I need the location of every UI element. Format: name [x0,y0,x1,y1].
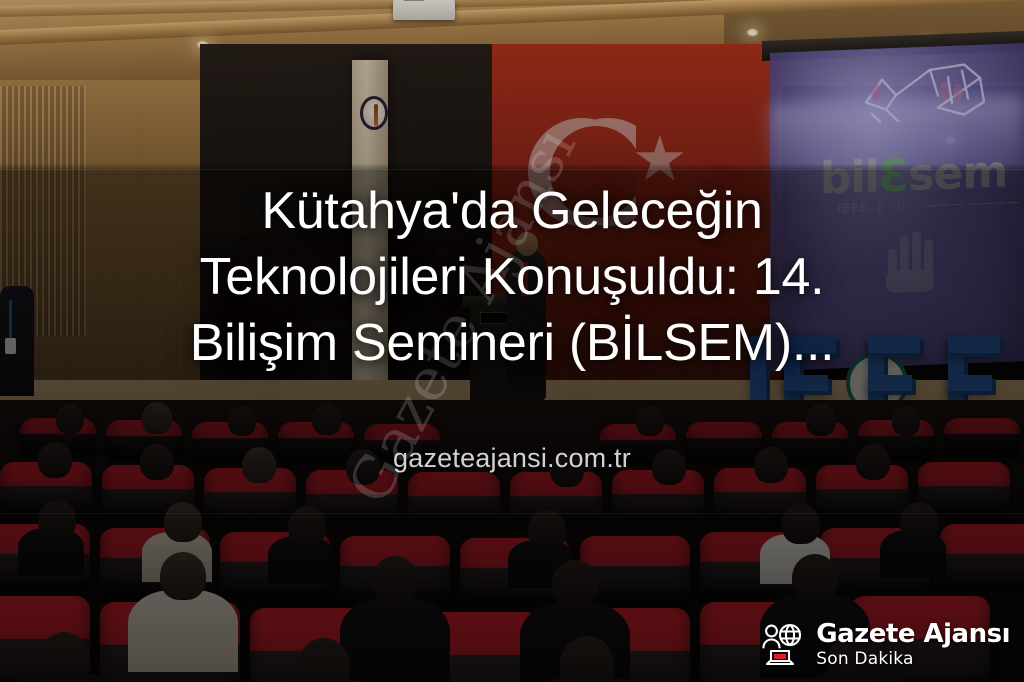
reporter-globe-laptop-icon [757,620,805,668]
headline-line-1: Kütahya'da Geleceğin [56,178,968,244]
brand-text: Gazete Ajansı Son Dakika [816,621,1010,668]
ceiling-projector [393,0,455,20]
headline-line-3: Bilişim Semineri (BİLSEM)... [56,310,968,376]
brand-logo[interactable]: Gazete Ajansı Son Dakika [757,620,1010,668]
brand-tagline: Son Dakika [816,651,1010,668]
projected-hand-illustration-icon [852,57,1002,149]
university-emblem-icon [360,96,388,130]
page-title: Kütahya'da Geleceğin Teknolojileri Konuş… [0,178,1024,376]
brand-name: Gazete Ajansı [816,621,1010,647]
ceiling-downlight [746,28,759,37]
news-image-card: bil3sem IEEE | ⓘ ——— ———— [0,0,1024,682]
headline-line-2: Teknolojileri Konuşuldu: 14. [56,244,968,310]
